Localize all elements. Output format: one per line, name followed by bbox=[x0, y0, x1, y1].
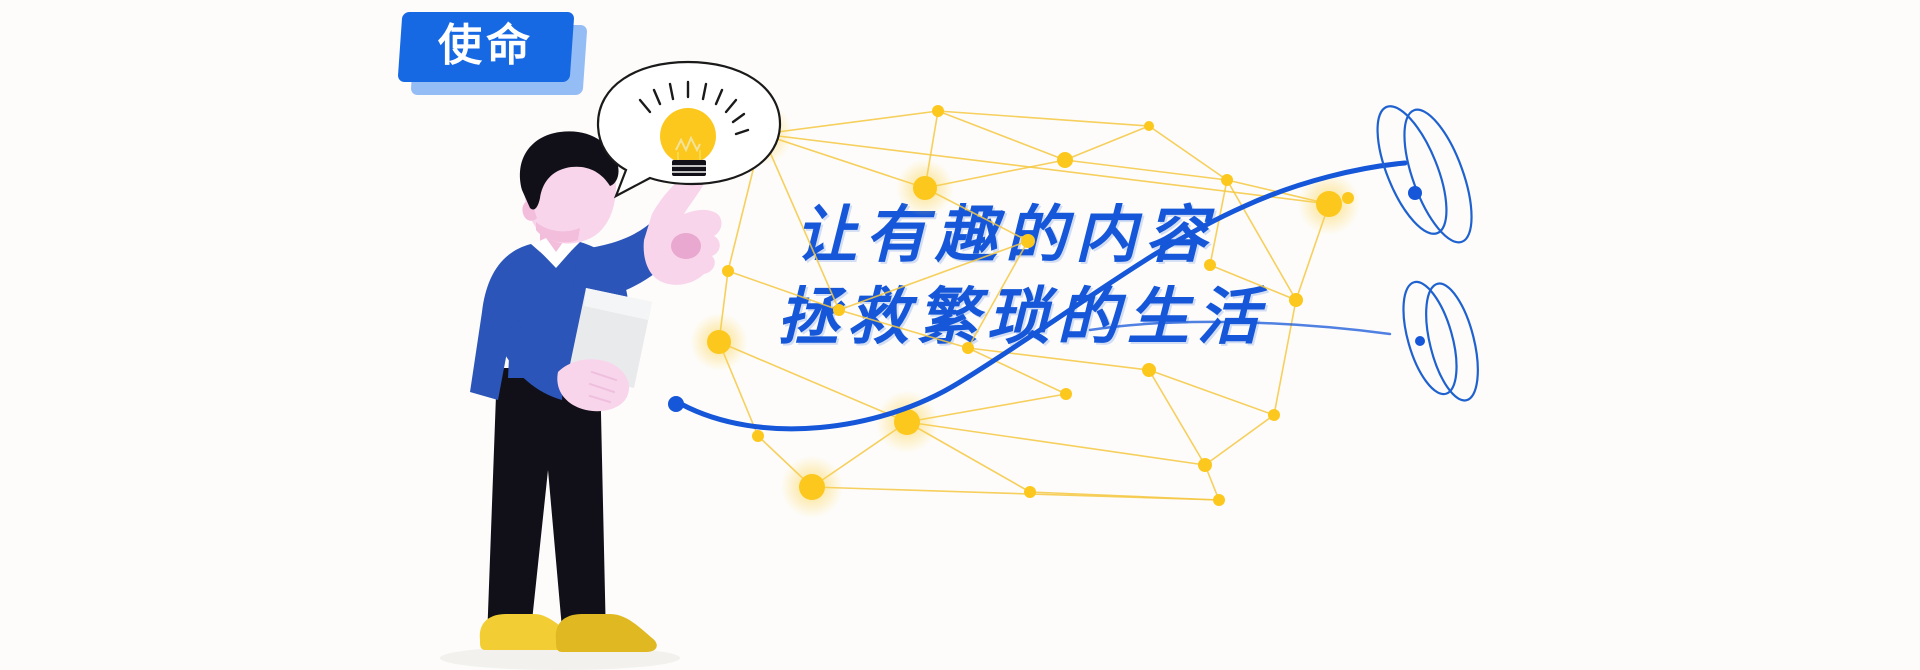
badge-layer: 使命 bbox=[0, 0, 1920, 670]
mission-badge-face: 使命 bbox=[398, 12, 575, 82]
mission-badge: 使命 bbox=[400, 12, 572, 82]
mission-banner: 让有趣的内容 拯救繁琐的生活 使命 bbox=[0, 0, 1920, 670]
mission-badge-label: 使命 bbox=[438, 24, 534, 68]
